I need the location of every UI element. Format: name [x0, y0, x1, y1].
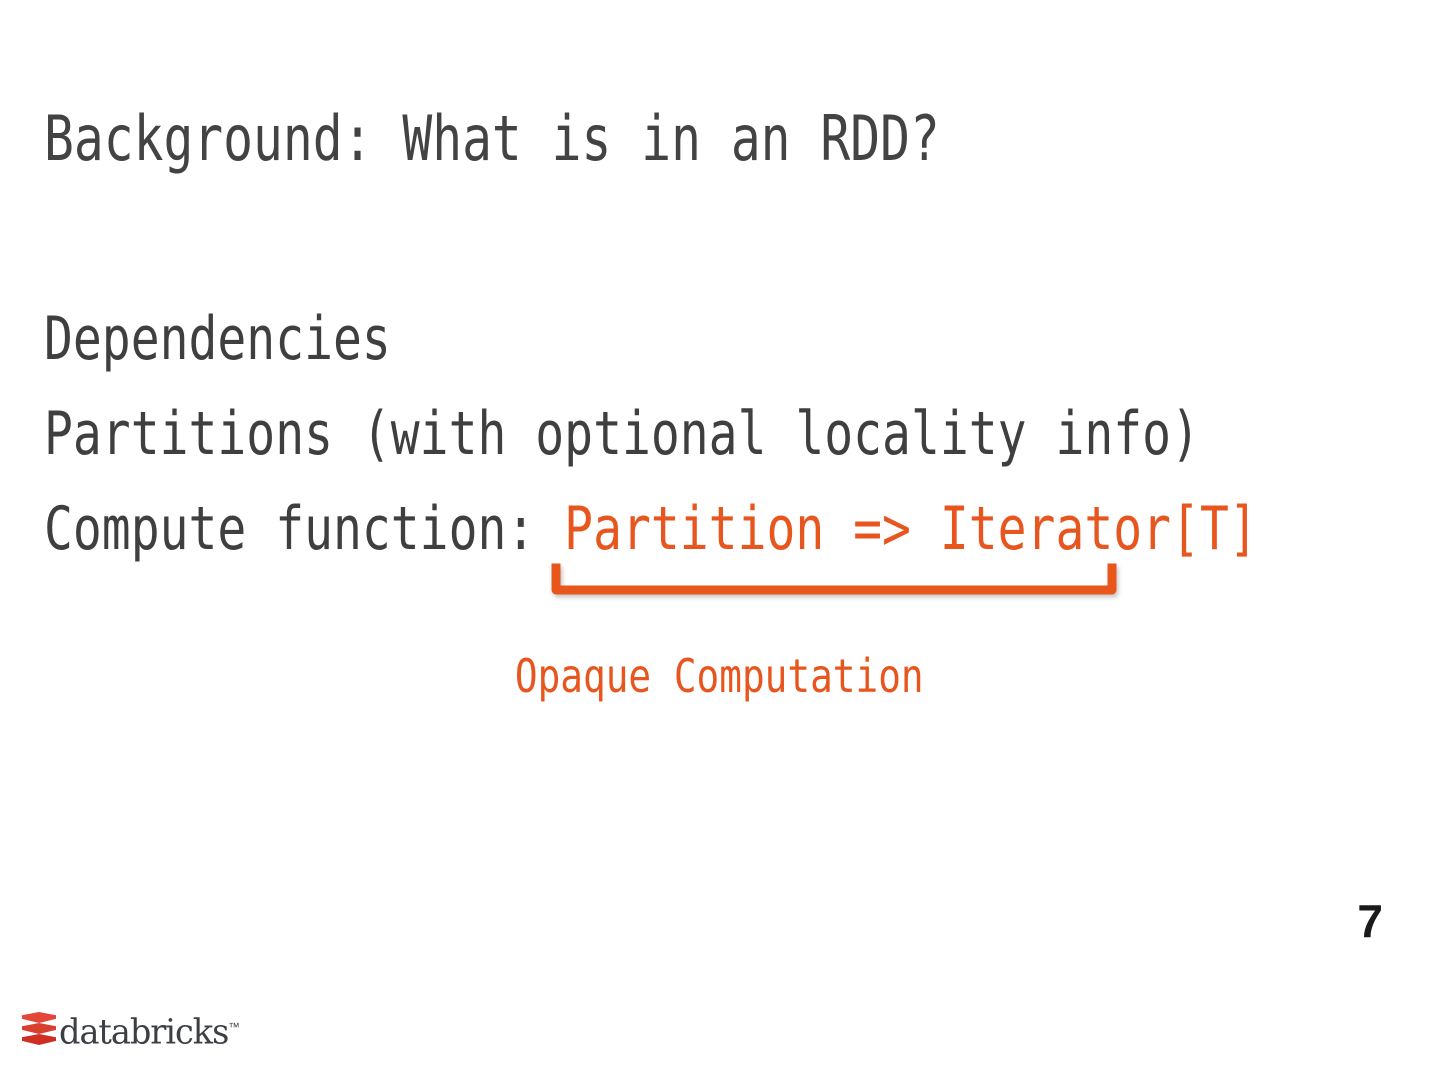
- databricks-bricks-icon: [22, 1012, 56, 1048]
- compute-function-signature: Partition => Iterator[T]: [564, 494, 1258, 564]
- body-line-dependencies: Dependencies: [44, 292, 1404, 387]
- bracket-path: [556, 568, 1112, 590]
- body-line-partitions: Partitions (with optional locality info): [44, 387, 1404, 482]
- bracket-caption: Opaque Computation: [0, 646, 1439, 706]
- page-number: 7: [1357, 896, 1383, 946]
- bracket-caption-text: Opaque Computation: [515, 646, 924, 706]
- page-title: Background: What is in an RDD?: [44, 101, 940, 177]
- trademark-symbol: ™: [228, 1020, 240, 1034]
- opaque-computation-bracket: [548, 562, 1128, 616]
- databricks-logo: databricks™: [22, 1008, 247, 1052]
- slide: Background: What is in an RDD? Dependenc…: [0, 0, 1439, 1079]
- compute-function-label: Compute function:: [44, 494, 564, 564]
- databricks-wordmark: databricks™: [59, 1009, 240, 1051]
- databricks-wordmark-text: databricks: [59, 1013, 228, 1053]
- body-text-block: Dependencies Partitions (with optional l…: [44, 292, 1439, 577]
